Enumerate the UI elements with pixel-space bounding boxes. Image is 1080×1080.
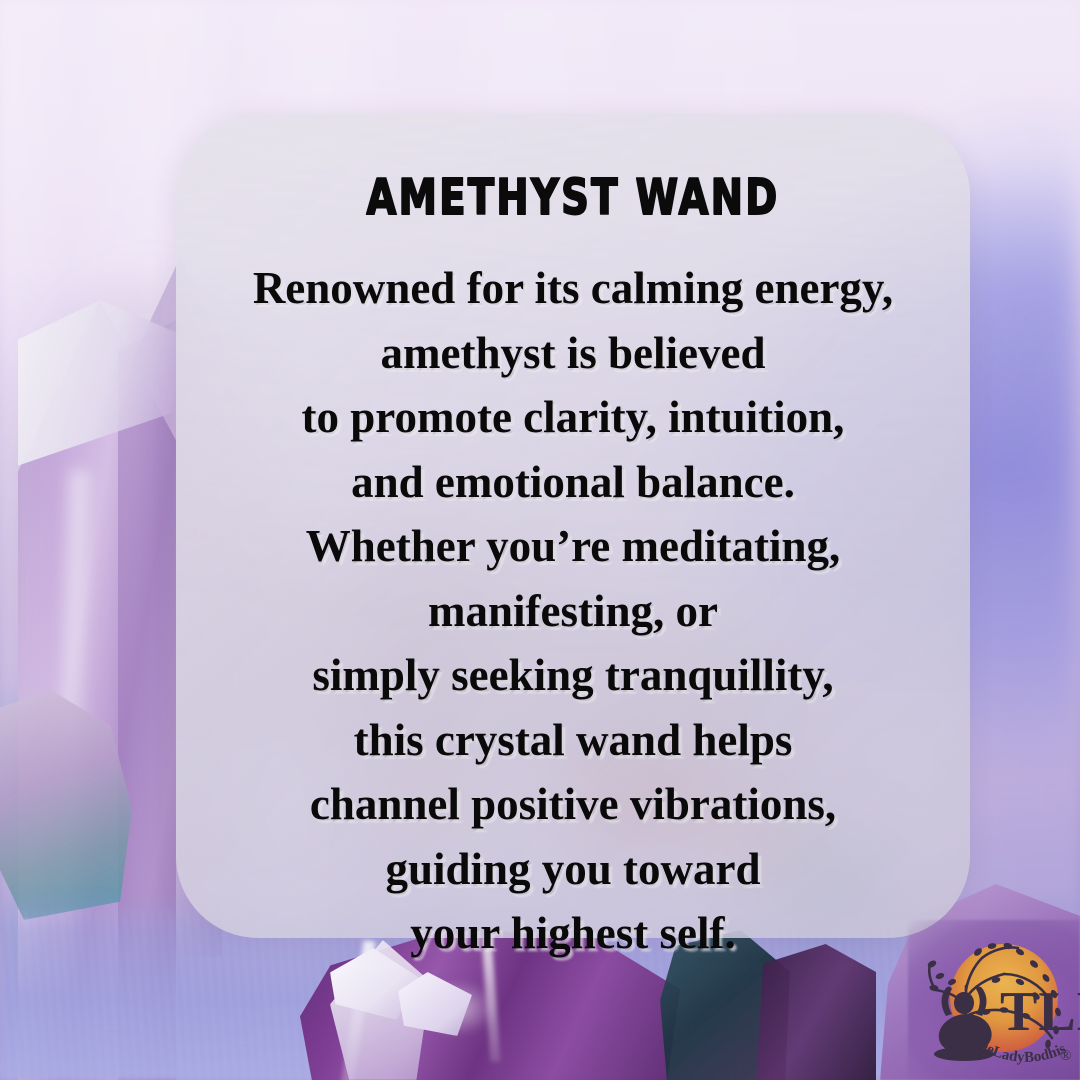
brand-logo: TLB TheLadyBodhisattva ®: [908, 920, 1080, 1080]
registered-trademark-icon: ®: [1060, 1048, 1071, 1064]
logo-artwork: TLB TheLadyBodhisattva ®: [908, 920, 1080, 1080]
description-line: Renowned for its calming energy,: [176, 256, 970, 321]
card-text-stack: AMETHYST WAND Renowned for its calming e…: [176, 114, 970, 938]
description-line: Whether you’re meditating,: [176, 514, 970, 579]
product-info-card: AMETHYST WAND Renowned for its calming e…: [0, 0, 1080, 1080]
description-line: to promote clarity, intuition,: [176, 385, 970, 450]
page-title: AMETHYST WAND: [366, 170, 779, 226]
description-line: this crystal wand helps: [176, 708, 970, 773]
description-line: and emotional balance.: [176, 450, 970, 515]
description-line: simply seeking tranquillity,: [176, 643, 970, 708]
description-line: amethyst is believed: [176, 321, 970, 386]
card-description: Renowned for its calming energy, amethys…: [176, 256, 970, 966]
description-line: your highest self.: [176, 901, 970, 966]
description-line: manifesting, or: [176, 579, 970, 644]
logo-monogram: TLB: [1000, 981, 1080, 1043]
description-line: channel positive vibrations,: [176, 772, 970, 837]
description-line: guiding you toward: [176, 837, 970, 902]
